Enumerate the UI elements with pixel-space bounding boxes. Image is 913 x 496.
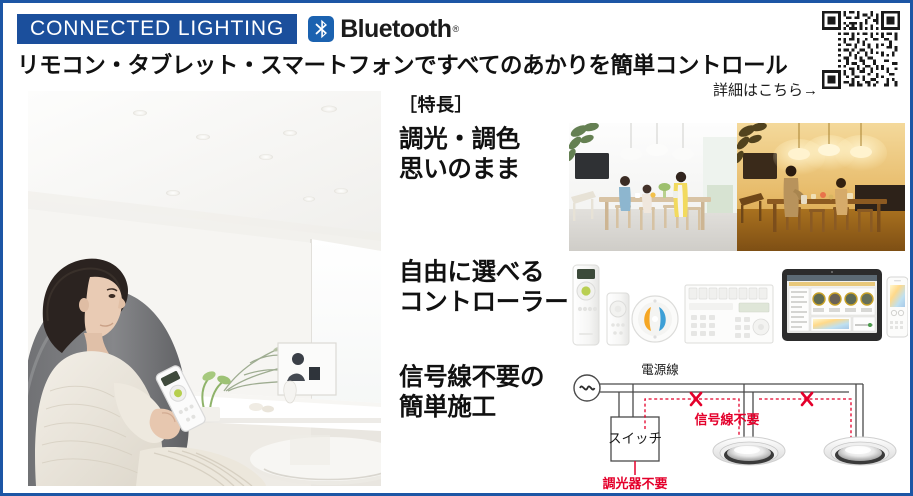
controller-lineup — [563, 261, 908, 349]
features-heading: ［特長］ — [399, 91, 473, 117]
no-signal-line-label: 信号線不要 — [694, 412, 759, 427]
feature-label-no-signal-wire: 信号線不要の 簡単施工 — [399, 363, 544, 423]
bluetooth-icon — [308, 16, 334, 42]
subtitle: リモコン・タブレット・スマートフォンですべてのあかりを簡単コントロール — [17, 48, 787, 80]
switch-label: スイッチ — [608, 431, 662, 446]
feature-label-dimming-color: 調光・調色 思いのまま — [399, 125, 520, 185]
header: CONNECTED LIGHTING Bluetooth ® — [17, 14, 459, 44]
scene-pair — [569, 123, 905, 251]
bluetooth-wordmark: Bluetooth — [340, 15, 451, 44]
feature-label-controllers: 自由に選べる コントローラー — [399, 258, 568, 318]
scene-warm — [737, 123, 905, 251]
hero-photo — [28, 91, 381, 486]
scene-daylight — [569, 123, 737, 251]
bluetooth-lockup: Bluetooth ® — [308, 15, 459, 44]
qr-code-icon[interactable] — [822, 11, 900, 89]
wiring-diagram: スイッチ 電源線 信号線不要 調光器不要 — [563, 355, 908, 490]
no-dimmer-label: 調光器不要 — [602, 476, 667, 490]
power-line-label: 電源線 — [641, 362, 679, 377]
slide-frame: CONNECTED LIGHTING Bluetooth ® リモコン・タブレッ… — [0, 0, 913, 496]
registered-mark-icon: ® — [452, 24, 459, 34]
brand-banner: CONNECTED LIGHTING — [17, 14, 297, 44]
qr-caption: 詳細はこちら→ — [713, 79, 818, 100]
